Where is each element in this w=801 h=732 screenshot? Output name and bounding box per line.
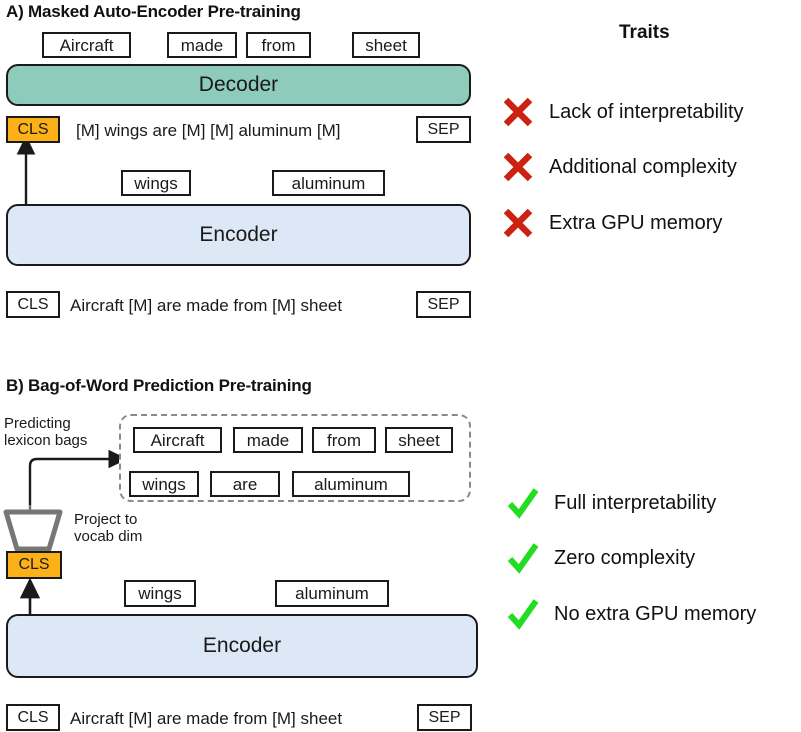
bag-token-box: are [210,471,280,497]
check-icon [506,486,540,520]
trait-label: Full interpretability [554,492,716,515]
arrow-projection-to-bag [30,459,118,505]
bag-token-box: made [233,427,303,453]
token-box: aluminum [272,170,385,196]
trait-row-positive-3: No extra GPU memory [506,597,756,631]
predicting-lexicon-note: Predicting lexicon bags [4,415,87,450]
encoder-block-a: Encoder [6,204,471,266]
input-sequence-text-a: Aircraft [M] are made from [M] sheet [70,297,342,314]
trait-label: Lack of interpretability [549,101,744,124]
trait-label: Extra GPU memory [549,212,722,235]
predicting-note-line-2: lexicon bags [4,432,87,449]
encoder-block-b: Encoder [6,614,478,678]
traits-heading: Traits [619,22,670,44]
token-box: from [246,32,311,58]
check-icon [506,541,540,575]
trait-label: Additional complexity [549,156,737,179]
cross-icon [501,95,535,129]
cls-token-a: CLS [6,116,60,143]
trait-row-negative-3: Extra GPU memory [501,206,722,240]
cls-input-token-b: CLS [6,704,60,731]
cross-icon [501,150,535,184]
panel-a-title: A) Masked Auto-Encoder Pre-training [6,2,301,22]
cross-icon [501,206,535,240]
bag-token-box: aluminum [292,471,410,497]
cls-input-token-a: CLS [6,291,60,318]
trait-label: No extra GPU memory [554,603,756,626]
token-box: aluminum [275,580,389,607]
bag-token-box: wings [129,471,199,497]
project-note-line-2: vocab dim [74,528,142,545]
trait-row-negative-1: Lack of interpretability [501,95,744,129]
token-box: wings [124,580,196,607]
bag-token-box: from [312,427,376,453]
masked-sequence-text-a: [M] wings are [M] [M] aluminum [M] [76,122,341,139]
projection-trapezoid-icon [6,512,60,549]
trait-row-negative-2: Additional complexity [501,150,737,184]
token-box: wings [121,170,191,196]
project-to-vocab-note: Project to vocab dim [74,511,142,546]
bag-token-box: Aircraft [133,427,222,453]
token-box: made [167,32,237,58]
project-note-line-1: Project to [74,511,142,528]
predicting-note-line-1: Predicting [4,415,87,432]
token-box: sheet [352,32,420,58]
panel-b-title: B) Bag-of-Word Prediction Pre-training [6,376,312,396]
input-sequence-text-b: Aircraft [M] are made from [M] sheet [70,710,342,727]
token-box: Aircraft [42,32,131,58]
bag-token-box: sheet [385,427,453,453]
trait-row-positive-2: Zero complexity [506,541,695,575]
trait-row-positive-1: Full interpretability [506,486,716,520]
sep-input-token-a: SEP [416,291,471,318]
check-icon [506,597,540,631]
trait-label: Zero complexity [554,547,695,570]
decoder-block: Decoder [6,64,471,106]
sep-input-token-b: SEP [417,704,472,731]
sep-token-a: SEP [416,116,471,143]
cls-token-b: CLS [6,551,62,579]
